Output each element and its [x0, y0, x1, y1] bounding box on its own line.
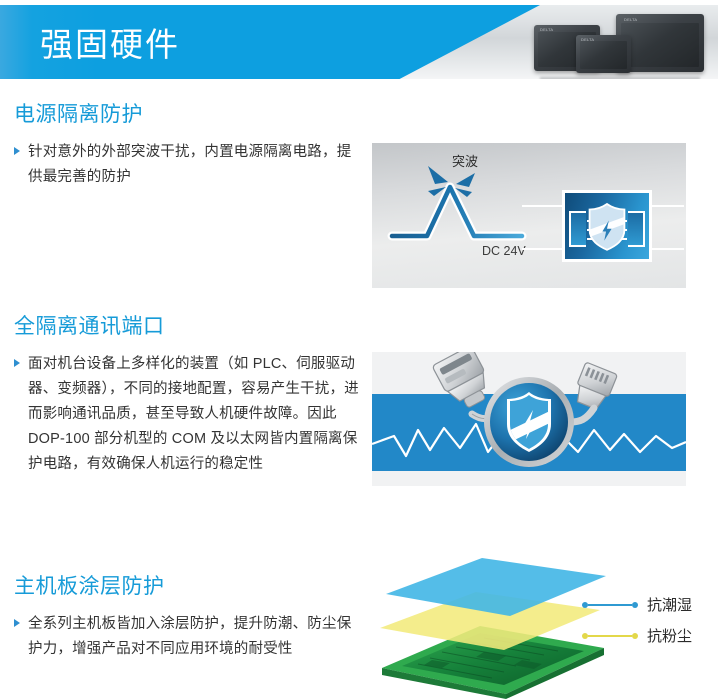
bullet-item: 面对机台设备上多样化的装置（如 PLC、伺服驱动器、变频器），不同的接地配置，容… [14, 352, 364, 477]
wire-top-left [522, 205, 564, 207]
bullet-item: 全系列主机板皆加入涂层防护，提升防潮、防尘保护力，增强产品对不同应用环境的耐受性 [14, 612, 359, 662]
device-reflection [540, 77, 700, 79]
surge-label: 突波 [452, 151, 478, 170]
section-heading: 主机板涂层防护 [14, 570, 359, 600]
legend-anti-moisture: 抗潮湿 [582, 594, 692, 615]
wire-bot-left [522, 248, 564, 250]
hmi-panel-small: DELTA [576, 35, 631, 73]
bullet-text: 全系列主机板皆加入涂层防护，提升防潮、防尘保护力，增强产品对不同应用环境的耐受性 [28, 612, 359, 662]
triangle-bullet-icon [14, 619, 20, 627]
section-heading: 电源隔离防护 [14, 98, 359, 128]
legend-dot-end [632, 602, 638, 608]
bullet-text: 针对意外的外部突波干扰，内置电源隔离电路，提供最完善的防护 [28, 140, 359, 190]
wire-bot-right [650, 248, 684, 250]
hmi-screen [580, 41, 627, 69]
bullet-item: 针对意外的外部突波干扰，内置电源隔离电路，提供最完善的防护 [14, 140, 359, 190]
section-isolated-comm-ports: 全隔离通讯端口 面对机台设备上多样化的装置（如 PLC、伺服驱动器、变频器），不… [14, 310, 364, 477]
legend-label: 抗潮湿 [647, 594, 692, 615]
ports-graphic [372, 352, 686, 486]
figure-surge-isolation: 突波 DC 24V [372, 143, 686, 288]
triangle-bullet-icon [14, 359, 20, 367]
hmi-screen [621, 23, 699, 67]
legend-dot-end [632, 633, 638, 639]
figure-pcb-coating: 抗潮湿 抗粉尘 [372, 556, 706, 699]
section-heading: 全隔离通讯端口 [14, 310, 364, 340]
header-banner: 强固硬件 DELTA DELTA DELTA [0, 5, 718, 79]
section-power-isolation: 电源隔离防护 针对意外的外部突波干扰，内置电源隔离电路，提供最完善的防护 [14, 98, 359, 190]
page-title: 强固硬件 [40, 18, 180, 66]
hmi-device-group: DELTA DELTA DELTA [534, 9, 704, 79]
legend-label: 抗粉尘 [647, 625, 692, 646]
section-board-coating: 主机板涂层防护 全系列主机板皆加入涂层防护，提升防潮、防尘保护力，增强产品对不同… [14, 570, 359, 662]
page-root: 强固硬件 DELTA DELTA DELTA 电源隔离防护 针对意外的外部突波干… [0, 0, 718, 699]
wire-top-right [650, 205, 684, 207]
figure-isolated-ports [372, 352, 686, 486]
isolation-module [562, 190, 652, 262]
bullet-text: 面对机台设备上多样化的装置（如 PLC、伺服驱动器、变频器），不同的接地配置，容… [28, 352, 364, 477]
legend-leader-line [588, 604, 632, 606]
shield-icon [565, 193, 649, 259]
triangle-bullet-icon [14, 147, 20, 155]
legend-anti-dust: 抗粉尘 [582, 625, 692, 646]
brand-logo-icon: DELTA [624, 17, 637, 22]
legend-leader-line [588, 635, 632, 637]
dc-voltage-label: DC 24V [482, 244, 526, 258]
